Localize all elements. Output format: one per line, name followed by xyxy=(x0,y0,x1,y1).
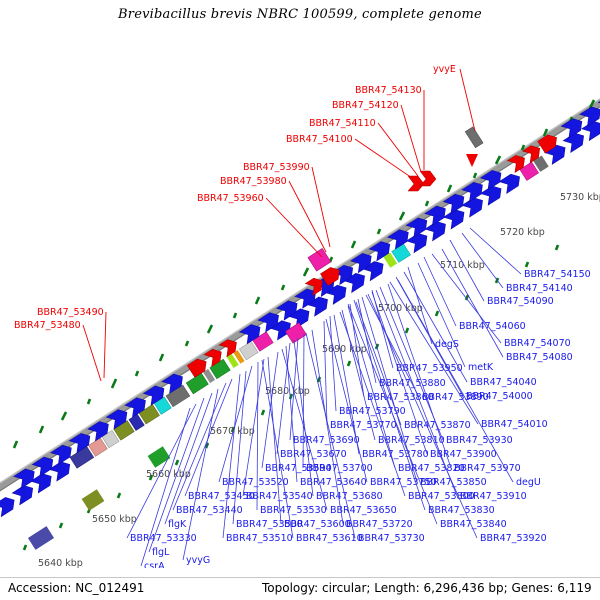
gene-label-blue[interactable]: flgL xyxy=(152,547,170,558)
gene-label-blue[interactable]: BBR47_53680 xyxy=(316,491,383,502)
feature-block-b[interactable] xyxy=(82,489,105,510)
gene-label-blue[interactable]: degU xyxy=(516,477,541,488)
red-leader-line xyxy=(312,167,330,247)
scale-tick-label: 5690 kbp xyxy=(322,344,367,355)
accession-text: Accession: NC_012491 xyxy=(8,581,144,595)
gene-label-blue[interactable]: BBR47_53450 xyxy=(188,491,255,502)
gene-label-blue[interactable]: BBR47_54070 xyxy=(504,338,571,349)
scale-tick-label: 5640 kbp xyxy=(38,558,83,568)
gene-label-blue[interactable]: BBR47_53970 xyxy=(454,463,521,474)
gene-label-blue[interactable]: yvyG xyxy=(186,555,210,566)
gene-label-blue[interactable]: BBR47_53780 xyxy=(362,449,429,460)
gene-label-blue[interactable]: BBR47_53670 xyxy=(280,449,347,460)
gene-label-blue[interactable]: BBR47_53840 xyxy=(440,519,507,530)
genome-summary-text: Topology: circular; Length: 6,296,436 bp… xyxy=(262,581,592,595)
page-title: Brevibacillus brevis NBRC 100599, comple… xyxy=(0,7,600,22)
gene-label-red[interactable]: BBR47_53990 xyxy=(243,162,310,173)
gene-label-red[interactable]: yvyE xyxy=(433,64,456,75)
gene-label-blue[interactable]: BBR47_54040 xyxy=(470,377,537,388)
status-bar: Accession: NC_012491 Topology: circular;… xyxy=(0,577,600,600)
gene-label-blue[interactable]: BBR47_53510 xyxy=(226,533,293,544)
gene-label-blue[interactable]: BBR47_53520 xyxy=(222,477,289,488)
gene-label-blue[interactable]: BBR47_53440 xyxy=(176,505,243,516)
red-leader-line xyxy=(83,325,101,381)
gene-label-red[interactable]: BBR47_53480 xyxy=(14,320,81,331)
gene-label-blue[interactable]: flgK xyxy=(168,519,187,530)
feature-arrow-yvyE[interactable] xyxy=(466,154,478,167)
blue-leader-line xyxy=(418,263,465,367)
gene-label-blue[interactable]: BBR47_53910 xyxy=(460,491,527,502)
feature-rna-54130[interactable] xyxy=(408,171,436,191)
gene-label-blue[interactable]: BBR47_53600 xyxy=(284,519,351,530)
gene-label-blue[interactable]: BBR47_53830 xyxy=(428,505,495,516)
gene-label-red[interactable]: BBR47_54100 xyxy=(286,134,353,145)
gene-label-blue[interactable]: BBR47_53530 xyxy=(260,505,327,516)
scale-tick-label: 5720 kbp xyxy=(500,227,545,238)
gene-label-blue[interactable]: BBR47_53640 xyxy=(300,477,367,488)
red-leader-line xyxy=(460,69,475,131)
blue-leader-line xyxy=(277,343,290,454)
map-canvas[interactable]: 5640 kbp5650 kbp5660 kbp5670 kbp5680 kbp… xyxy=(0,28,600,568)
scale-tick-label: 5730 kbp xyxy=(560,192,600,203)
gene-label-red[interactable]: BBR47_54130 xyxy=(355,85,422,96)
gene-label-red[interactable]: BBR47_54120 xyxy=(332,100,399,111)
genome-map-viewer: Brevibacillus brevis NBRC 100599, comple… xyxy=(0,0,600,600)
red-leader-line xyxy=(104,312,106,378)
feature-gray-yvyE[interactable] xyxy=(465,127,483,148)
gene-label-blue[interactable]: BBR47_54010 xyxy=(481,419,548,430)
red-leader-line xyxy=(401,105,421,172)
map-svg[interactable]: 5640 kbp5650 kbp5660 kbp5670 kbp5680 kbp… xyxy=(0,28,600,568)
gene-label-red[interactable]: BBR47_53490 xyxy=(37,307,104,318)
gene-label-blue[interactable]: BBR47_54080 xyxy=(506,352,573,363)
scale-tick-label: 5650 kbp xyxy=(92,514,137,525)
gene-label-blue[interactable]: BBR47_53770 xyxy=(330,420,397,431)
gene-label-blue[interactable]: BBR47_53930 xyxy=(446,435,513,446)
gene-label-blue[interactable]: metK xyxy=(468,362,494,373)
gene-label-red[interactable]: BBR47_53980 xyxy=(220,176,287,187)
gene-label-red[interactable]: BBR47_54110 xyxy=(309,118,376,129)
blue-leader-line xyxy=(330,316,336,411)
gene-label-blue[interactable]: BBR47_53730 xyxy=(358,533,425,544)
blue-leader-line xyxy=(334,315,359,454)
gene-label-blue[interactable]: BBR47_53920 xyxy=(480,533,547,544)
feature-block-c[interactable] xyxy=(148,446,171,467)
gene-label-blue[interactable]: BBR47_54090 xyxy=(487,296,554,307)
blue-leader-line xyxy=(303,334,304,468)
feature-block-a[interactable] xyxy=(28,526,54,550)
gene-label-red[interactable]: BBR47_53960 xyxy=(197,193,264,204)
gene-label-blue[interactable]: BBR47_54140 xyxy=(506,283,573,294)
blue-leader-line xyxy=(286,346,297,482)
blue-leader-line xyxy=(219,366,252,482)
gene-label-blue[interactable]: BBR47_53720 xyxy=(346,519,413,530)
gene-label-blue[interactable]: csrA xyxy=(144,561,165,568)
gene-label-blue[interactable]: BBR47_54060 xyxy=(459,321,526,332)
gene-label-blue[interactable]: BBR47_53610 xyxy=(296,533,363,544)
gene-label-blue[interactable]: BBR47_54150 xyxy=(524,269,591,280)
gene-label-blue[interactable]: degS xyxy=(435,339,459,350)
gene-label-blue[interactable]: BBR47_53890 xyxy=(422,392,489,403)
feature-magenta-53980[interactable] xyxy=(308,248,331,271)
